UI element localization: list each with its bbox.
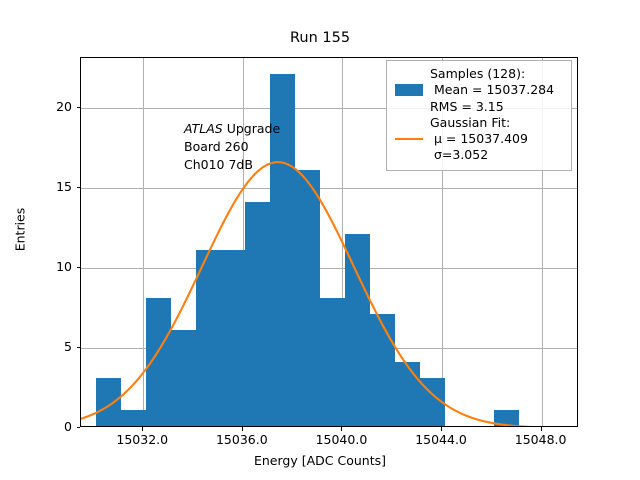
x-axis-label: Energy [ADC Counts] — [0, 453, 640, 468]
legend-label-fit: Gaussian Fit: μ = 15037.409 σ=3.052 — [430, 115, 528, 164]
legend-swatch-fit — [394, 131, 424, 147]
x-tick-mark — [341, 427, 342, 431]
page-title: Run 155 — [0, 30, 640, 46]
y-tick-mark — [77, 107, 81, 108]
plot-annotation: ATLAS Upgrade Board 260 Ch010 7dB — [184, 120, 280, 173]
legend-entry-fit: Gaussian Fit: μ = 15037.409 σ=3.052 — [394, 115, 564, 164]
y-tick-label: 20 — [12, 99, 72, 114]
x-tick-mark — [242, 427, 243, 431]
y-tick-mark — [77, 267, 81, 268]
y-tick-mark — [77, 187, 81, 188]
annotation-board: Board 260 — [184, 139, 249, 154]
x-tick-label: 15048.0 — [481, 432, 601, 447]
annotation-atlas: ATLAS — [184, 121, 223, 136]
y-tick-mark — [77, 347, 81, 348]
x-tick-mark — [142, 427, 143, 431]
legend-entry-samples: Samples (128): Mean = 15037.284 RMS = 3.… — [394, 66, 564, 115]
y-tick-label: 5 — [12, 339, 72, 354]
y-tick-label: 0 — [12, 419, 72, 434]
chart-figure: Run 155 ATLAS Upgrade Board 260 Ch010 7d… — [0, 0, 640, 480]
y-tick-mark — [77, 427, 81, 428]
legend: Samples (128): Mean = 15037.284 RMS = 3.… — [386, 60, 572, 171]
annotation-channel: Ch010 7dB — [184, 157, 253, 172]
annotation-upgrade: Upgrade — [223, 121, 280, 136]
x-tick-mark — [441, 427, 442, 431]
y-axis-label: Entries — [13, 120, 28, 340]
x-tick-mark — [541, 427, 542, 431]
legend-label-samples: Samples (128): Mean = 15037.284 RMS = 3.… — [430, 66, 554, 115]
legend-swatch-samples — [394, 82, 424, 98]
